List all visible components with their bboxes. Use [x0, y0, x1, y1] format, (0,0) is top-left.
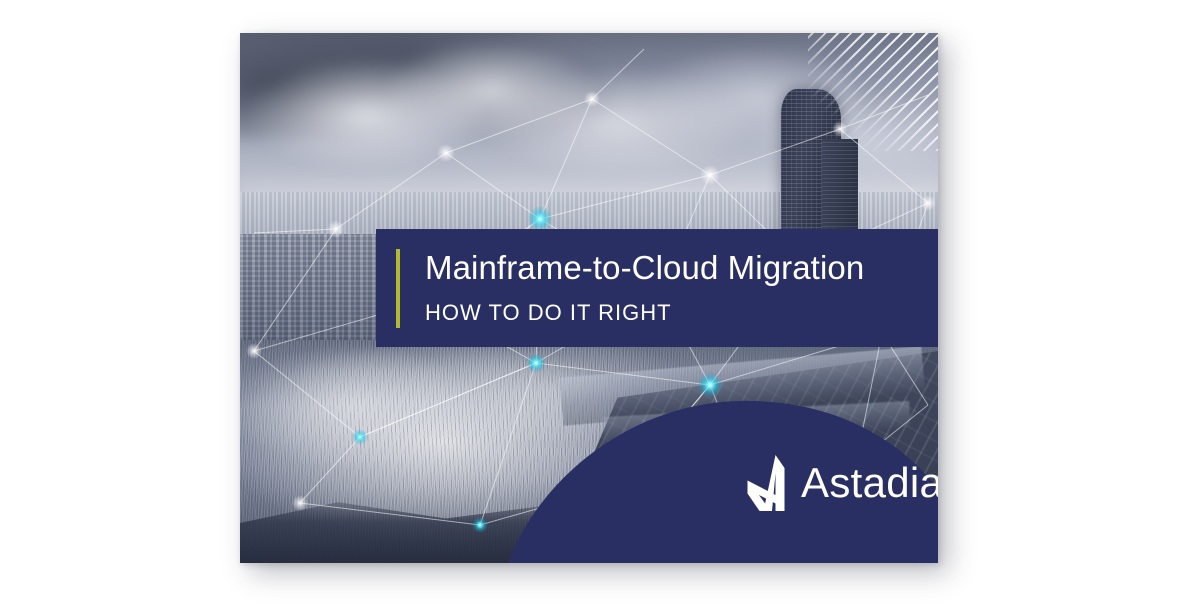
accent-bar — [396, 249, 400, 328]
astadia-logo[interactable]: Astadia ™ — [745, 455, 938, 511]
cover-subtitle: HOW TO DO IT RIGHT — [425, 300, 864, 326]
cover-stage: Mainframe-to-Cloud Migration HOW TO DO I… — [0, 0, 1200, 604]
brand-name: Astadia — [801, 459, 938, 506]
ebook-cover-card[interactable]: Mainframe-to-Cloud Migration HOW TO DO I… — [240, 33, 938, 563]
cover-title: Mainframe-to-Cloud Migration — [425, 250, 864, 287]
title-text-group: Mainframe-to-Cloud Migration HOW TO DO I… — [425, 250, 864, 326]
astadia-a-mark-icon — [745, 455, 791, 511]
title-banner: Mainframe-to-Cloud Migration HOW TO DO I… — [376, 229, 938, 347]
astadia-wordmark: Astadia ™ — [801, 462, 938, 504]
